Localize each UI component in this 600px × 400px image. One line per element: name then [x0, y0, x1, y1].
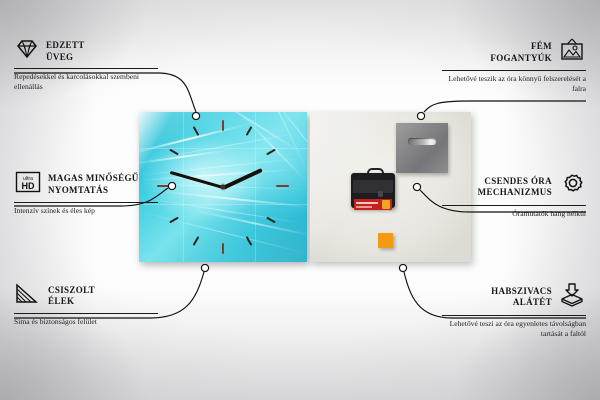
feature-title-line2: FOGANTYÚK	[490, 53, 552, 65]
mechanism-badge	[382, 200, 390, 209]
divider	[442, 315, 586, 316]
feature-title-line2: ALÁTÉT	[491, 297, 552, 309]
feature-title-line1: HABSZIVACS	[491, 286, 552, 298]
clock-front-panel	[139, 112, 307, 262]
feature-title-line1: CSENDES ÓRA	[478, 176, 552, 188]
feature-description: Lehetővé teszik az óra könnyű felszerelé…	[442, 74, 586, 93]
feature-title-line1: MAGAS MINŐSÉGŰ	[48, 173, 139, 185]
divider	[14, 202, 158, 203]
feature-title-line2: ÜVEG	[46, 52, 85, 64]
feature-high-quality-print[interactable]: ultra HD MAGAS MINŐSÉGŰ NYOMTATÁS Intenz…	[14, 170, 158, 216]
clock-mechanism	[351, 168, 395, 208]
mechanism-top	[353, 180, 393, 193]
polished-edge-icon	[14, 282, 42, 310]
clock-hand-hub	[221, 185, 226, 190]
divider	[442, 205, 586, 206]
feature-metal-handles[interactable]: FÉM FOGANTYÚK Lehetővé teszik az óra kön…	[442, 38, 586, 93]
feature-description: Lehetővé teszi az óra egyenletes távolsá…	[442, 319, 586, 338]
gear-icon	[558, 172, 586, 202]
divider	[442, 70, 586, 71]
picture-frame-icon	[558, 38, 586, 67]
feature-tempered-glass[interactable]: EDZETT ÜVEG Repedésekkel és karcolásokka…	[14, 38, 158, 91]
feature-description: Sima és biztonságos felület	[14, 317, 158, 327]
ultra-hd-icon: ultra HD	[14, 170, 42, 199]
feature-title-line1: EDZETT	[46, 40, 85, 52]
feature-description: Repedésekkel és karcolásokkal szembeni e…	[14, 72, 158, 91]
feature-description: Intenzív színek és éles kép	[14, 206, 158, 216]
mechanism-label	[354, 199, 392, 210]
divider	[14, 68, 158, 69]
feature-polished-edges[interactable]: CSISZOLT ÉLEK Sima és biztonságos felüle…	[14, 282, 158, 327]
feature-title-line2: NYOMTATÁS	[48, 185, 139, 197]
feature-description: Óramutatók hang nélkül	[442, 209, 586, 219]
mechanism-body	[351, 173, 395, 208]
mechanism-shaft	[378, 191, 383, 197]
foam-pad	[378, 233, 393, 248]
svg-text:HD: HD	[22, 181, 35, 191]
feature-foam-pad[interactable]: HABSZIVACS ALÁTÉT Lehetővé teszi az óra …	[442, 282, 586, 338]
feature-silent-mechanism[interactable]: CSENDES ÓRA MECHANIZMUS Óramutatók hang …	[442, 172, 586, 219]
foam-pad-icon	[558, 282, 586, 312]
feature-title-line2: MECHANIZMUS	[478, 187, 552, 199]
metal-hanger	[396, 123, 448, 173]
feature-title-line2: ÉLEK	[48, 296, 95, 308]
product-image	[139, 112, 471, 264]
hanger-slot	[408, 138, 436, 145]
infographic-canvas: EDZETT ÜVEG Repedésekkel és karcolásokka…	[0, 0, 600, 400]
diamond-icon	[14, 38, 40, 65]
feature-title-line1: FÉM	[490, 41, 552, 53]
divider	[14, 313, 158, 314]
feature-title-line1: CSISZOLT	[48, 285, 95, 297]
